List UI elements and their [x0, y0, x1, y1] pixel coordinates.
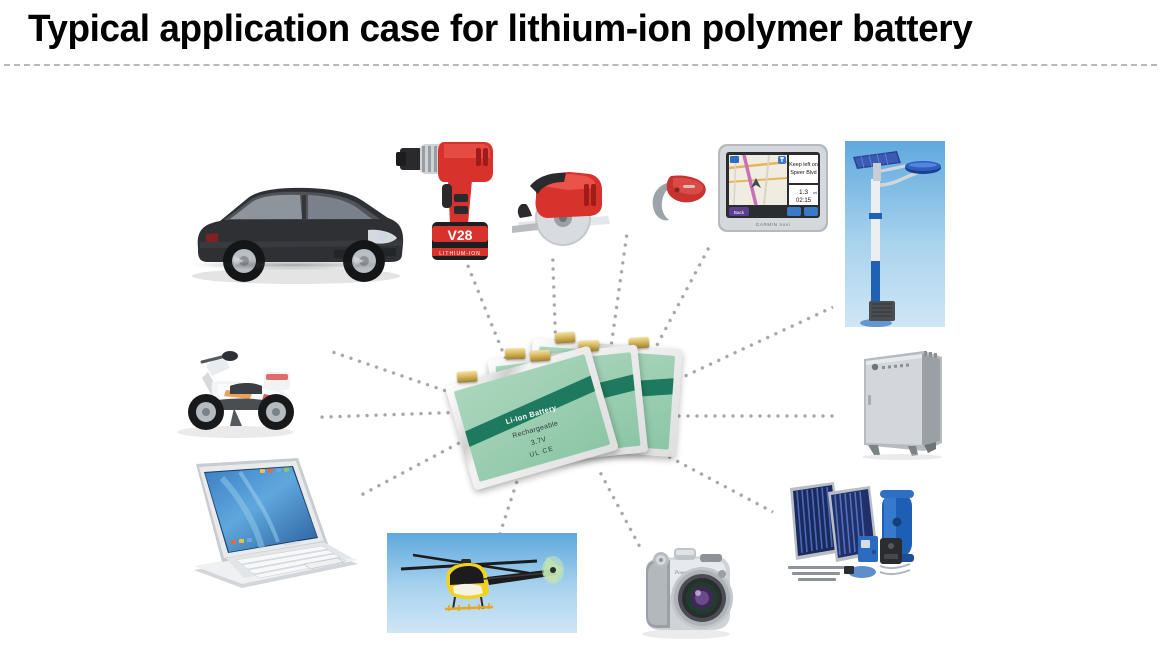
app-circular-saw[interactable] [508, 160, 618, 256]
page-title: Typical application case for lithium-ion… [28, 8, 972, 51]
app-solar-street-light[interactable] [845, 141, 945, 327]
drill-illustration: V28 LITHIUM-ION [392, 132, 500, 268]
headset-illustration [645, 168, 711, 230]
svg-text:mi: mi [813, 190, 817, 195]
title-divider [4, 64, 1157, 66]
cabinet-illustration [850, 345, 950, 461]
app-solar-water-heater[interactable] [784, 474, 918, 588]
laptop-illustration [182, 452, 364, 600]
svg-text:GARMIN nuvi: GARMIN nuvi [756, 222, 791, 227]
svg-text:Speer Blvd: Speer Blvd [790, 170, 816, 176]
svg-text:Back: Back [734, 210, 745, 215]
helicopter-illustration [387, 533, 577, 633]
svg-text:02:15: 02:15 [796, 198, 812, 204]
camera-illustration: PowerShot S2 IS [634, 538, 738, 640]
app-electric-scooter[interactable] [168, 338, 302, 440]
spoke-to-streetlight [667, 305, 834, 386]
app-power-cabinet[interactable] [850, 345, 950, 461]
svg-text:Keep left on: Keep left on [789, 162, 818, 168]
battery-cell-1[interactable]: Li-Ion Battery Rechargeable 3.7V UL CE [445, 345, 619, 490]
battery-tab [505, 348, 525, 360]
battery-tab [530, 350, 551, 362]
svg-text:LITHIUM-ION: LITHIUM-ION [439, 251, 481, 257]
battery-tab [555, 331, 576, 343]
app-car[interactable] [182, 172, 410, 292]
gps-illustration: Keep left on Speer Blvd 1.3 mi 02:15 Bac… [714, 138, 832, 246]
solarheater-illustration [784, 474, 918, 588]
spoke-to-scooter [316, 410, 468, 419]
app-laptop[interactable] [182, 452, 364, 600]
battery-cluster[interactable]: Li-Ion Battery Li-Ion Battery Li-Ion Bat… [455, 338, 685, 478]
slide-canvas: Typical application case for lithium-ion… [0, 0, 1161, 661]
battery-tab [457, 371, 478, 383]
car-illustration [182, 172, 410, 292]
app-digital-camera[interactable]: PowerShot S2 IS [634, 538, 738, 640]
app-rc-helicopter[interactable] [387, 533, 577, 633]
app-gps-navigator[interactable]: Keep left on Speer Blvd 1.3 mi 02:15 Bac… [714, 138, 832, 246]
battery-face: Li-Ion Battery Rechargeable 3.7V UL CE [454, 354, 611, 482]
app-drill[interactable]: V28 LITHIUM-ION [392, 132, 500, 268]
car-shadow [190, 260, 395, 270]
spoke-to-cabinet [668, 414, 836, 418]
svg-text:V28: V28 [448, 227, 473, 243]
svg-text:1.3: 1.3 [799, 189, 808, 196]
streetlight-illustration [845, 141, 945, 327]
saw-illustration [508, 160, 618, 256]
scooter-illustration [168, 338, 302, 440]
title-bar: Typical application case for lithium-ion… [0, 0, 1161, 68]
app-bluetooth-headset[interactable] [645, 168, 711, 230]
